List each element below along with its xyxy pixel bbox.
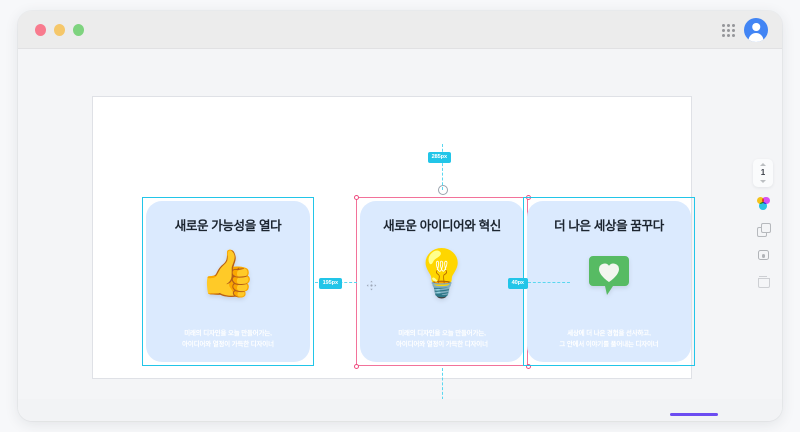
card-left-desc-line-2: 아이디어와 열정이 가득한 디자이너 bbox=[182, 339, 274, 350]
color-palette-icon bbox=[757, 197, 770, 210]
card-right-description: 세상에 더 나은 경험을 선사하고, 그 안에서 이야기를 풀어내는 디자이너 bbox=[559, 328, 658, 350]
titlebar-actions bbox=[722, 18, 768, 42]
guide-line-right bbox=[528, 282, 570, 283]
chevron-down-icon[interactable] bbox=[760, 180, 766, 183]
measurement-badge-right: 40px bbox=[508, 278, 528, 289]
workspace: 새로운 가능성을 열다 👍 미래의 디자인을 오늘 만들어가는, 아이디어와 열… bbox=[18, 49, 782, 421]
traffic-lights bbox=[35, 24, 84, 36]
card-center-desc-line-2: 아이디어와 열정이 가득한 디자이너 bbox=[396, 339, 488, 350]
speech-balloon-heart-emoji bbox=[585, 250, 633, 305]
card-right-title: 더 나은 세상을 꿈꾸다 bbox=[554, 215, 664, 234]
card-left[interactable]: 새로운 가능성을 열다 👍 미래의 디자인을 오늘 만들어가는, 아이디어와 열… bbox=[146, 201, 310, 362]
minimize-button[interactable] bbox=[54, 24, 65, 36]
close-button[interactable] bbox=[35, 24, 46, 36]
chevron-up-icon[interactable] bbox=[760, 163, 766, 166]
apps-grid-icon[interactable] bbox=[722, 24, 735, 37]
bottom-bar bbox=[18, 399, 782, 421]
rotate-handle[interactable] bbox=[438, 185, 448, 195]
measurement-badge-top: 285px bbox=[428, 152, 451, 163]
titlebar bbox=[18, 11, 782, 49]
thumbs-up-emoji: 👍 bbox=[199, 250, 256, 296]
duplicate-button[interactable] bbox=[753, 219, 773, 239]
move-handle[interactable] bbox=[366, 280, 377, 291]
card-right-desc-line-2: 그 안에서 이야기를 풀어내는 디자이너 bbox=[559, 339, 658, 350]
side-toolbar: 1 bbox=[750, 159, 776, 291]
comment-button[interactable] bbox=[753, 245, 773, 265]
card-left-description: 미래의 디자인을 오늘 만들어가는, 아이디어와 열정이 가득한 디자이너 bbox=[182, 328, 274, 350]
layer-stepper[interactable]: 1 bbox=[753, 159, 773, 187]
comment-icon bbox=[758, 250, 769, 260]
card-center-description: 미래의 디자인을 오늘 만들어가는, 아이디어와 열정이 가득한 디자이너 bbox=[396, 328, 488, 350]
app-window: 새로운 가능성을 열다 👍 미래의 디자인을 오늘 만들어가는, 아이디어와 열… bbox=[18, 11, 782, 421]
delete-button[interactable] bbox=[753, 271, 773, 291]
duplicate-icon bbox=[757, 223, 769, 235]
measurement-badge-left: 195px bbox=[319, 278, 342, 289]
card-center-title: 새로운 아이디어와 혁신 bbox=[383, 215, 501, 234]
layer-stepper-value: 1 bbox=[761, 169, 765, 177]
guide-line-top bbox=[442, 144, 443, 190]
horizontal-scrollbar[interactable] bbox=[670, 413, 718, 416]
trash-icon bbox=[758, 276, 768, 287]
user-avatar-icon[interactable] bbox=[744, 18, 768, 42]
card-right-desc-line-1: 세상에 더 나은 경험을 선사하고, bbox=[559, 328, 658, 339]
card-left-title: 새로운 가능성을 열다 bbox=[175, 215, 282, 234]
card-left-desc-line-1: 미래의 디자인을 오늘 만들어가는, bbox=[182, 328, 274, 339]
card-center-desc-line-1: 미래의 디자인을 오늘 만들어가는, bbox=[396, 328, 488, 339]
card-center[interactable]: 새로운 아이디어와 혁신 💡 미래의 디자인을 오늘 만들어가는, 아이디어와 … bbox=[360, 201, 524, 362]
color-palette-icon-button[interactable] bbox=[753, 193, 773, 213]
lightbulb-emoji: 💡 bbox=[413, 250, 470, 296]
maximize-button[interactable] bbox=[73, 24, 84, 36]
